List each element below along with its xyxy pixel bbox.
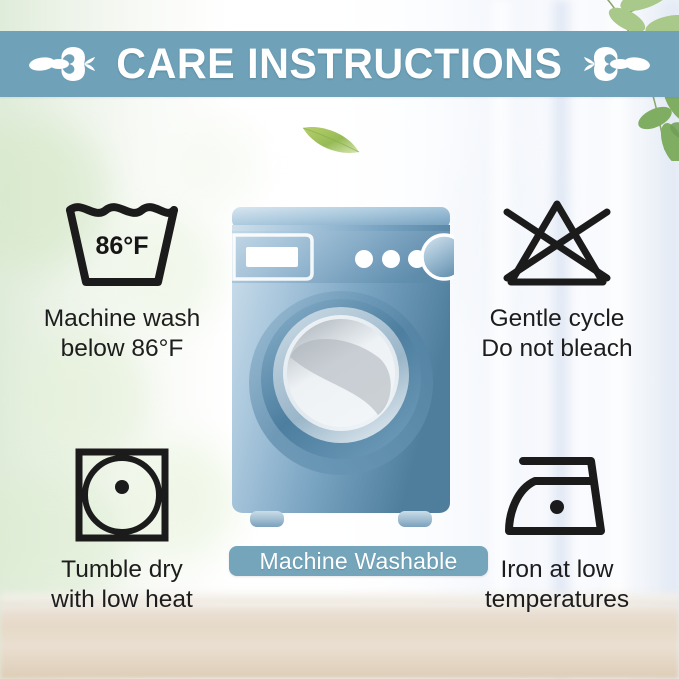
wash-tub-icon: 86°F	[60, 192, 184, 296]
care-symbol-tumble-dry: Tumble dry with low heat	[20, 443, 224, 615]
iron-icon	[495, 443, 619, 547]
table-surface	[0, 605, 679, 679]
care-instructions-graphic: CARE INSTRUCTIONS 86°F Machine wash bel	[0, 0, 679, 679]
care-caption: Tumble dry with low heat	[51, 555, 193, 615]
no-bleach-triangle-icon	[495, 192, 619, 296]
care-caption: Iron at low temperatures	[485, 555, 629, 615]
care-symbol-do-not-bleach: Gentle cycle Do not bleach	[455, 192, 659, 364]
washing-machine-illustration	[228, 207, 454, 537]
wash-temperature-value: 86°F	[95, 232, 148, 260]
fleur-de-lis-left-icon	[29, 41, 95, 87]
care-symbol-machine-wash: 86°F Machine wash below 86°F	[20, 192, 224, 364]
page-title: CARE INSTRUCTIONS	[116, 40, 562, 89]
badge-label: Machine Washable	[260, 548, 458, 575]
header-banner: CARE INSTRUCTIONS	[0, 31, 679, 97]
tumble-dry-icon	[67, 443, 177, 547]
machine-washable-badge: Machine Washable	[229, 546, 488, 576]
care-caption: Gentle cycle Do not bleach	[481, 304, 632, 364]
fleur-de-lis-right-icon	[584, 41, 650, 87]
care-caption: Machine wash below 86°F	[44, 304, 201, 364]
care-symbol-iron: Iron at low temperatures	[455, 443, 659, 615]
